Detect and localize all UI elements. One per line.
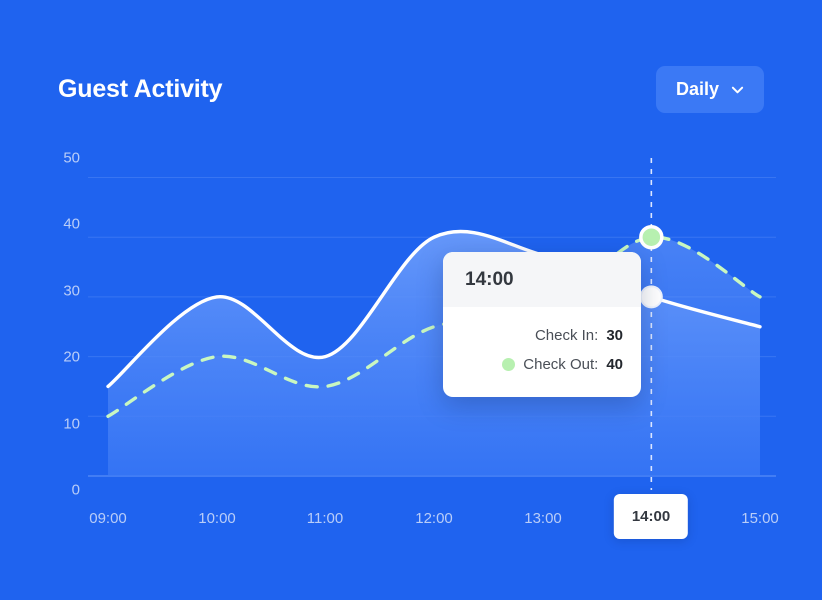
tooltip-row-check-out: Check Out: 40 — [443, 350, 641, 379]
x-axis: 09:00 10:00 11:00 12:00 13:00 14:00 15:0… — [88, 500, 776, 560]
chart-container: 50 40 30 20 10 0 — [0, 140, 822, 560]
range-dropdown-label: Daily — [676, 79, 719, 100]
chart-tooltip: 14:00 Check In: 30 Check Out: 40 — [443, 252, 641, 397]
y-tick-label: 10 — [0, 416, 80, 433]
x-tick-label-active[interactable]: 14:00 — [614, 494, 688, 539]
tooltip-body: Check In: 30 Check Out: 40 — [443, 307, 641, 397]
tooltip-time: 14:00 — [443, 252, 641, 307]
x-tick-label: 12:00 — [415, 510, 453, 527]
y-tick-label: 50 — [0, 150, 80, 167]
y-tick-label: 40 — [0, 216, 80, 233]
chevron-down-icon — [731, 83, 744, 96]
legend-dot-check-in-icon — [514, 329, 527, 342]
plot-area — [88, 158, 776, 490]
marker-check-in — [641, 286, 662, 307]
y-tick-label: 30 — [0, 283, 80, 300]
range-dropdown-button[interactable]: Daily — [656, 66, 764, 113]
y-axis: 50 40 30 20 10 0 — [0, 140, 80, 490]
x-tick-label: 15:00 — [741, 510, 779, 527]
tooltip-value-check-in: 30 — [606, 327, 623, 344]
tooltip-label-check-out: Check Out: — [523, 356, 598, 373]
guest-activity-card: Guest Activity Daily 50 40 30 20 10 0 — [0, 0, 822, 600]
y-tick-label: 20 — [0, 349, 80, 366]
x-tick-label: 09:00 — [89, 510, 127, 527]
x-tick-label: 11:00 — [307, 510, 343, 527]
legend-dot-check-out-icon — [502, 358, 515, 371]
x-tick-label: 13:00 — [524, 510, 562, 527]
marker-check-out — [641, 227, 662, 248]
y-tick-label: 0 — [0, 482, 80, 499]
x-tick-label: 10:00 — [198, 510, 236, 527]
tooltip-value-check-out: 40 — [606, 356, 623, 373]
page-title: Guest Activity — [58, 77, 222, 102]
card-header: Guest Activity Daily — [58, 62, 764, 116]
tooltip-label-check-in: Check In: — [535, 327, 598, 344]
tooltip-row-check-in: Check In: 30 — [443, 321, 641, 350]
